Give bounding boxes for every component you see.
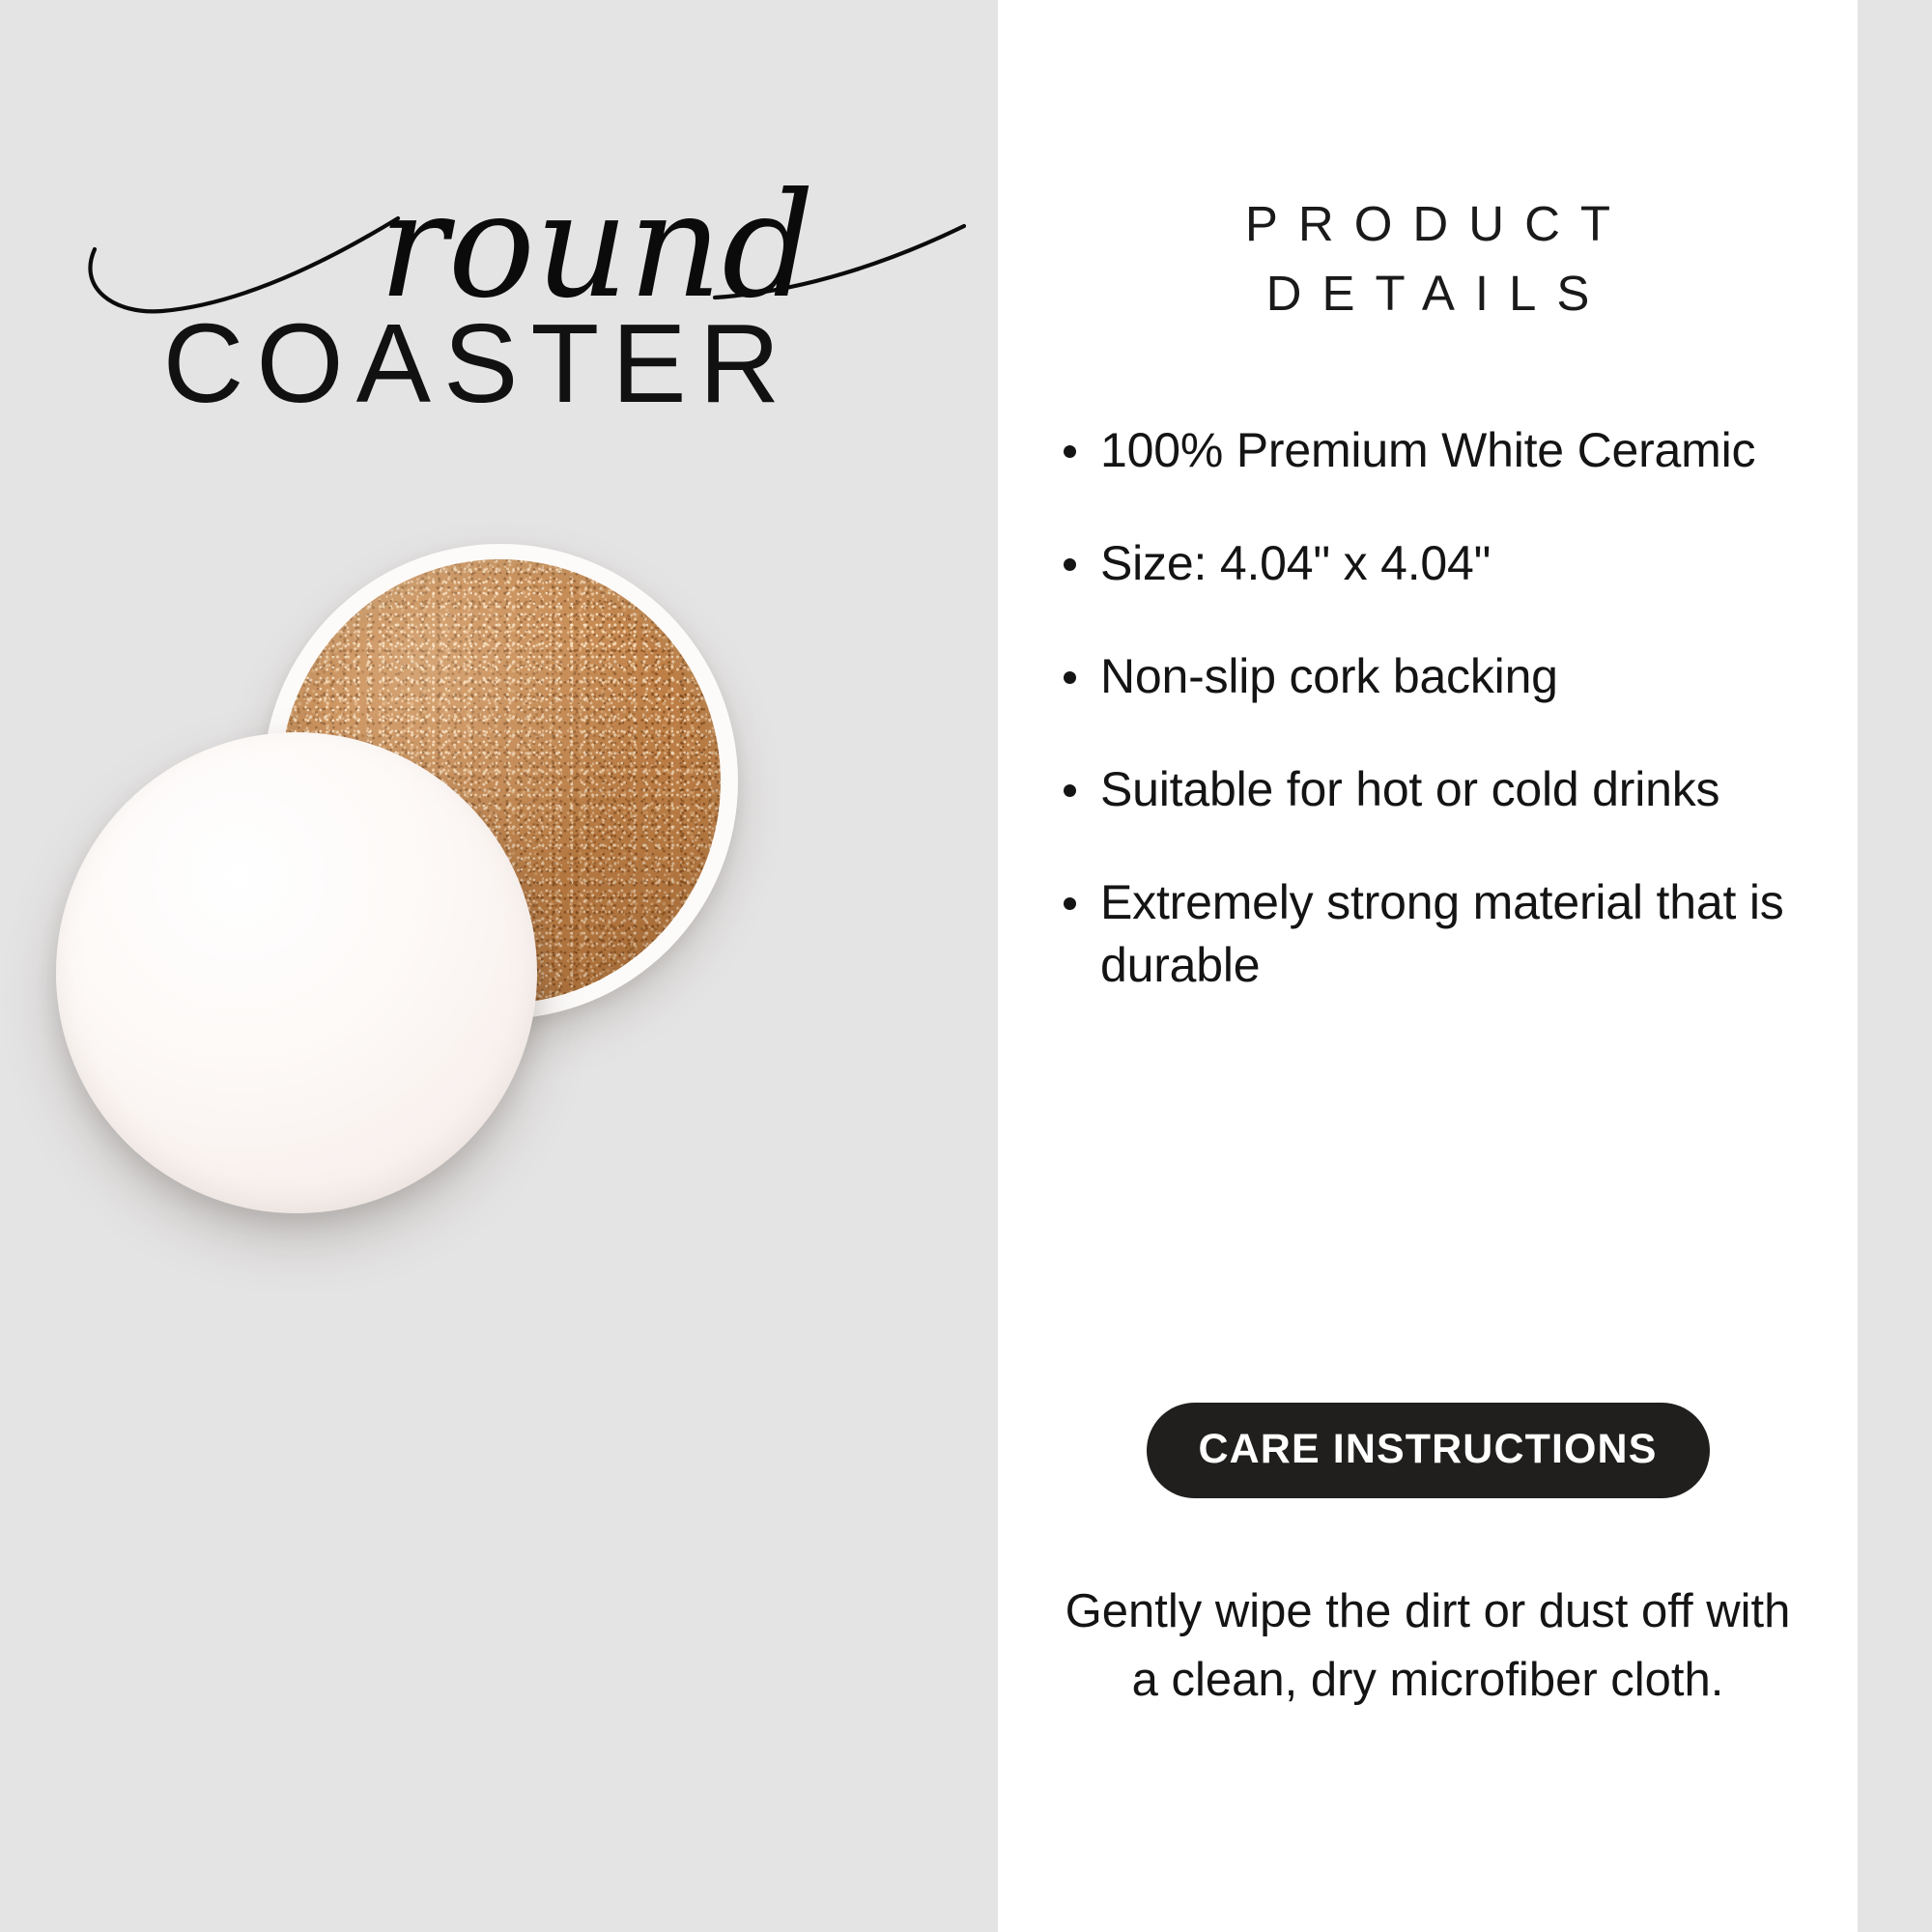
bullet-dot-icon bbox=[1064, 784, 1076, 797]
product-details-panel: PRODUCT DETAILS 100% Premium White Ceram… bbox=[998, 0, 1858, 1932]
list-item: Non-slip cork backing bbox=[1056, 645, 1819, 708]
list-item-label: Extremely strong material that is durabl… bbox=[1100, 875, 1784, 992]
page-title: COASTER bbox=[0, 307, 977, 419]
bullet-dot-icon bbox=[1064, 897, 1076, 910]
care-instructions-button[interactable]: CARE INSTRUCTIONS bbox=[1147, 1403, 1710, 1498]
details-heading-line-2: DETAILS bbox=[998, 259, 1858, 328]
list-item: Suitable for hot or cold drinks bbox=[1056, 758, 1819, 821]
product-details-page: round COASTER PRODUCT DETAILS 100% Premi… bbox=[0, 0, 1932, 1932]
script-title-round: round bbox=[39, 126, 966, 328]
list-item-label: Size: 4.04" x 4.04" bbox=[1100, 536, 1491, 590]
list-item-label: Non-slip cork backing bbox=[1100, 649, 1558, 703]
list-item-label: Suitable for hot or cold drinks bbox=[1100, 762, 1719, 816]
list-item: Size: 4.04" x 4.04" bbox=[1056, 532, 1819, 595]
right-edge-strip bbox=[1858, 0, 1932, 1932]
list-item: 100% Premium White Ceramic bbox=[1056, 419, 1819, 482]
left-hero-panel: round COASTER bbox=[0, 0, 998, 1932]
details-heading: PRODUCT DETAILS bbox=[998, 189, 1858, 329]
care-instructions-button-wrap: CARE INSTRUCTIONS bbox=[998, 1403, 1858, 1498]
list-item-label: 100% Premium White Ceramic bbox=[1100, 423, 1755, 477]
bullet-dot-icon bbox=[1064, 671, 1076, 684]
product-feature-list: 100% Premium White Ceramic Size: 4.04" x… bbox=[1056, 419, 1819, 997]
bullet-dot-icon bbox=[1064, 558, 1076, 571]
white-ceramic-coaster bbox=[56, 732, 537, 1213]
product-photo bbox=[0, 483, 998, 1507]
product-title-block: round COASTER bbox=[0, 126, 998, 473]
list-item: Extremely strong material that is durabl… bbox=[1056, 871, 1819, 997]
bullet-dot-icon bbox=[1064, 445, 1076, 458]
care-instructions-text: Gently wipe the dirt or dust off with a … bbox=[1064, 1577, 1792, 1715]
details-heading-line-1: PRODUCT bbox=[998, 189, 1858, 259]
